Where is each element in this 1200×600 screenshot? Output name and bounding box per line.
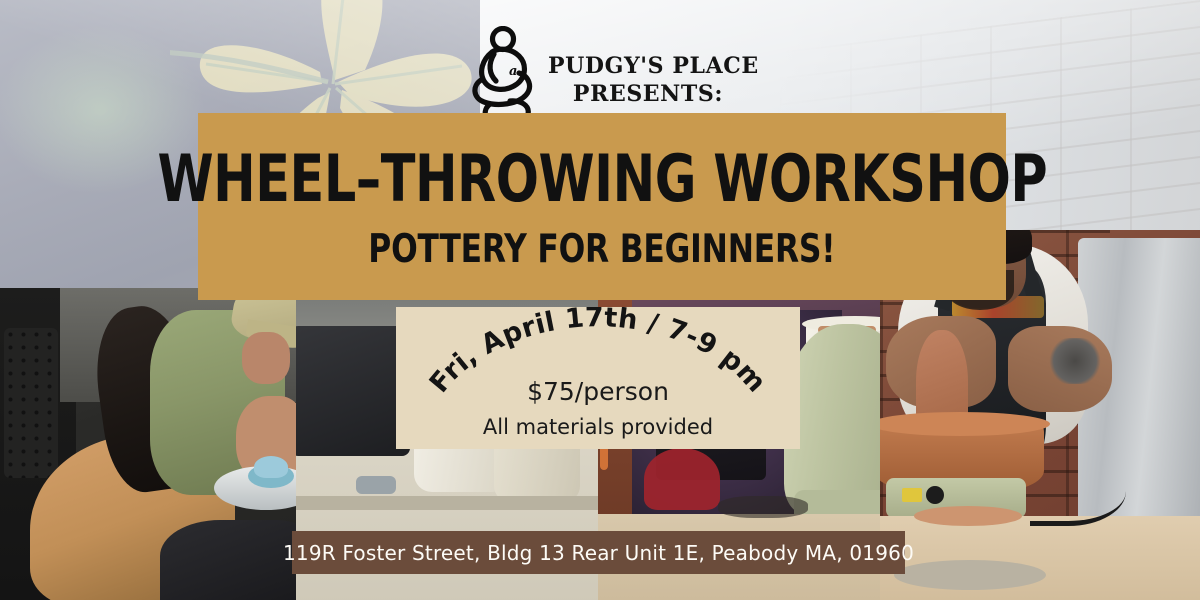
materials-note: All materials provided [396, 415, 800, 439]
logo-inner-letter: a [509, 64, 517, 79]
presents-label: PRESENTS: [548, 80, 748, 108]
subheadline: POTTERY FOR BEGINNERS! [368, 229, 835, 268]
brand-name: PUDGY'S PLACE [548, 52, 748, 80]
photo-potter-at-wheel [0, 288, 300, 600]
details-panel: Fri, April 17th / 7-9 pm $75/person All … [396, 307, 800, 449]
headline: WHEEL–THROWING WORKSHOP [157, 147, 1047, 212]
title-banner: WHEEL–THROWING WORKSHOP POTTERY FOR BEGI… [198, 113, 1006, 300]
address-text: 119R Foster Street, Bldg 13 Rear Unit 1E… [283, 541, 914, 565]
address-bar: 119R Foster Street, Bldg 13 Rear Unit 1E… [292, 531, 905, 574]
event-poster: a PUDGY'S PLACE PRESENTS: WHEEL–THROWING… [0, 0, 1200, 600]
price-line: $75/person [396, 377, 800, 406]
brand-block: PUDGY'S PLACE PRESENTS: [548, 52, 748, 108]
